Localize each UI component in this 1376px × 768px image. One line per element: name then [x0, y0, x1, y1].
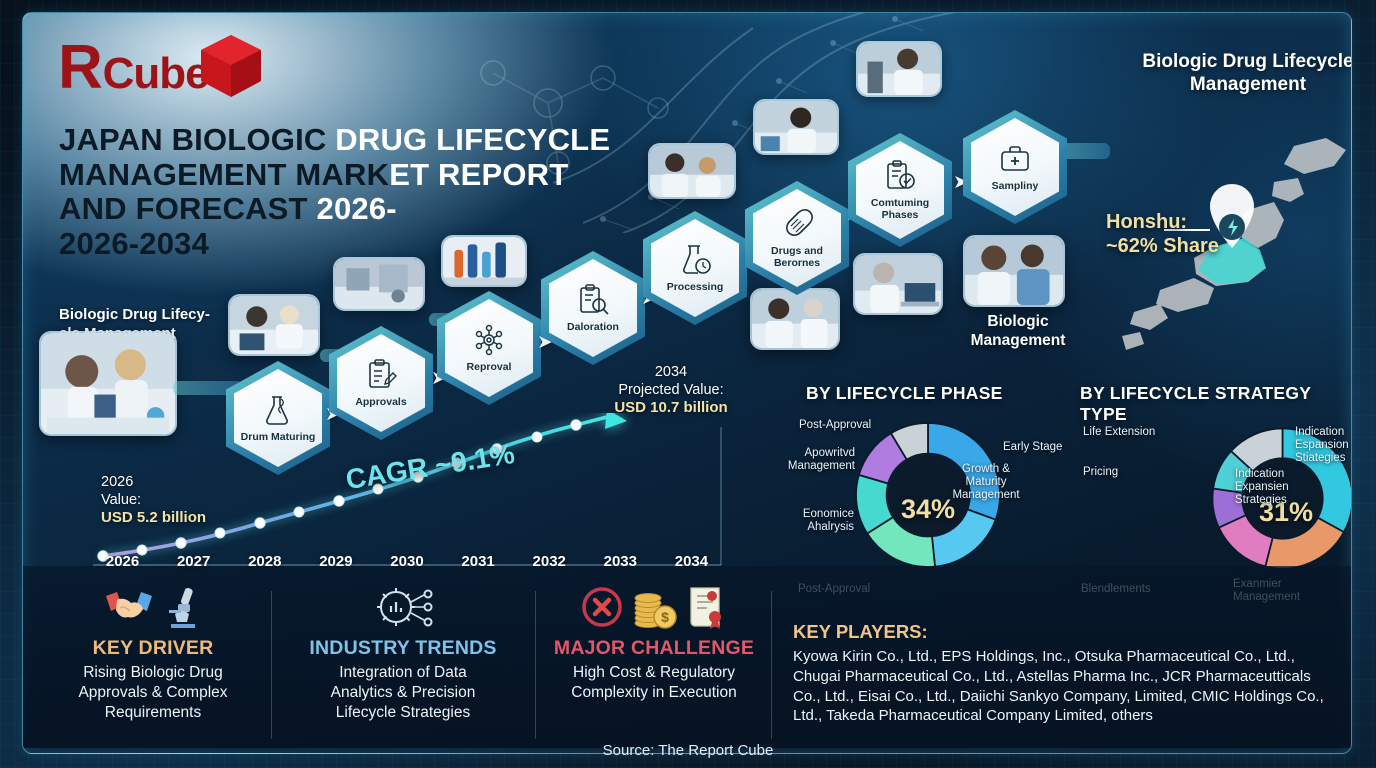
key-driver-cell: KEY DRIVER Rising Biologic Drug Approval…	[35, 581, 271, 722]
donut-1-label: Growth & Maturity Management	[948, 463, 1024, 503]
clipboard-check-icon	[883, 159, 917, 193]
key-driver-heading: KEY DRIVER	[35, 637, 271, 660]
industry-trends-cell: INDUSTRY TRENDS Integration of Data Anal…	[275, 581, 531, 722]
cube-icon	[195, 31, 267, 103]
donut-1-label: Early Stage	[1003, 441, 1083, 454]
photo-lab-equipment	[333, 257, 425, 311]
start-year: 2026	[101, 474, 133, 490]
clipboard-search-icon	[576, 283, 610, 317]
source-footer: Source: The Report Cube	[0, 742, 1376, 759]
flask-clock-icon	[678, 243, 712, 277]
donut-1-title: BY LIFECYCLE PHASE	[806, 383, 1003, 404]
gear-chart-network-icon	[372, 582, 434, 632]
document-seal-icon	[685, 584, 727, 630]
photo-lab-bench	[753, 99, 839, 155]
chart-end-value: 2034 Projected Value: USD 10.7 billion	[601, 363, 741, 418]
biologic-management-label: Biologic Management	[953, 313, 1083, 350]
honshu-share: ~62% Share	[1106, 235, 1219, 259]
title-part-2: DRUG LIFECYCLE	[335, 122, 610, 157]
poster-frame: ЯCube JAPAN BIOLOGIC DRUG LIFECYCLE MANA…	[22, 12, 1352, 754]
end-year: 2034	[655, 364, 687, 380]
donut-1-label: Eonomice Ahalrysis	[774, 508, 854, 534]
process-step-label: Processing	[667, 281, 724, 293]
process-step-label: Daloration	[567, 321, 619, 333]
photo-two-scientists	[750, 288, 840, 350]
handshake-icon	[104, 586, 154, 628]
photo-scientists-pair	[648, 143, 736, 199]
major-challenge-cell: $ MAJOR CHALLENGE High Cost & Regulatory…	[539, 581, 769, 703]
microscope-icon	[161, 584, 203, 630]
key-driver-body: Rising Biologic Drug Approvals & Complex…	[35, 663, 271, 722]
title-part-7: 2026-2034	[59, 226, 209, 261]
photo-lab-research	[228, 294, 320, 356]
donut-1-center-value: 34%	[901, 494, 955, 525]
process-step-label: Sampliny	[992, 180, 1039, 192]
x-circle-icon	[581, 586, 623, 628]
title-part-6: 2026-	[317, 191, 397, 226]
chart-start-value: 2026 Value: USD 5.2 billion	[101, 473, 206, 528]
industry-trends-body: Integration of Data Analytics & Precisio…	[275, 663, 531, 722]
end-caption: Projected Value:	[618, 382, 723, 398]
donut-1-label: Post-Approval	[799, 419, 871, 432]
photo-doctor-consult	[963, 235, 1065, 307]
major-challenge-body: High Cost & Regulatory Complexity in Exe…	[539, 663, 769, 703]
photo-scientist-laptop	[853, 253, 943, 315]
key-players-body: Kyowa Kirin Co., Ltd., EPS Holdings, Inc…	[793, 647, 1341, 726]
process-step-label: Comtuming Phases	[860, 197, 940, 221]
map-title: Biologic Drug Lifecycle Management	[1108, 51, 1352, 97]
donut-2-label: Indication Espansion Stiategies	[1295, 426, 1352, 466]
clipboard-pen-icon	[364, 358, 398, 392]
medical-kit-icon	[998, 142, 1032, 176]
photo-vials	[441, 235, 527, 287]
logo-r-glyph: Я	[59, 37, 103, 99]
industry-trends-heading: INDUSTRY TRENDS	[275, 637, 531, 660]
major-challenge-heading: MAJOR CHALLENGE	[539, 637, 769, 660]
honshu-label: Honshu:	[1106, 211, 1219, 235]
title-part-5: AND FORECAST	[59, 191, 317, 226]
donut-2-label: Life Extension	[1083, 426, 1155, 439]
divider	[771, 591, 772, 739]
coins-icon: $	[630, 585, 678, 629]
dna-capsule-icon	[780, 207, 814, 241]
process-step-label: Drugs and Berornes	[757, 245, 837, 269]
divider	[271, 591, 272, 739]
process-step-3[interactable]: Daloration	[541, 251, 645, 365]
start-caption: Value:	[101, 492, 141, 508]
photo-microscope-work	[856, 41, 942, 97]
process-step-2[interactable]: Reproval	[437, 291, 541, 405]
key-players-heading: KEY PLAYERS:	[793, 621, 1341, 643]
donut-2-label: Pricing	[1083, 466, 1118, 479]
start-value: USD 5.2 billion	[101, 509, 206, 526]
title-part-4: ET REPORT	[389, 157, 568, 192]
donut-2-label: Indication Expansien Strategies	[1235, 468, 1305, 508]
key-players-block: KEY PLAYERS: Kyowa Kirin Co., Ltd., EPS …	[793, 621, 1341, 726]
logo-cube-text: Cube	[103, 49, 209, 98]
process-step-label: Reproval	[467, 361, 512, 373]
title-part-3: MANAGEMENT MARK	[59, 157, 389, 192]
title-part-1: JAPAN BIOLOGIC	[59, 122, 335, 157]
molecule-gear-icon	[472, 323, 506, 357]
end-value: USD 10.7 billion	[614, 399, 727, 416]
donut-1-label: Apowritvd Management	[763, 447, 855, 473]
honshu-callout: Honshu: ~62% Share	[1106, 211, 1219, 258]
process-step-label: Approvals	[355, 396, 406, 408]
infographic-root: ЯCube JAPAN BIOLOGIC DRUG LIFECYCLE MANA…	[0, 0, 1376, 768]
divider	[535, 591, 536, 739]
svg-text:$: $	[661, 609, 669, 625]
brand-logo[interactable]: ЯCube	[59, 37, 269, 129]
page-title: JAPAN BIOLOGIC DRUG LIFECYCLE MANAGEMENT…	[59, 123, 659, 262]
